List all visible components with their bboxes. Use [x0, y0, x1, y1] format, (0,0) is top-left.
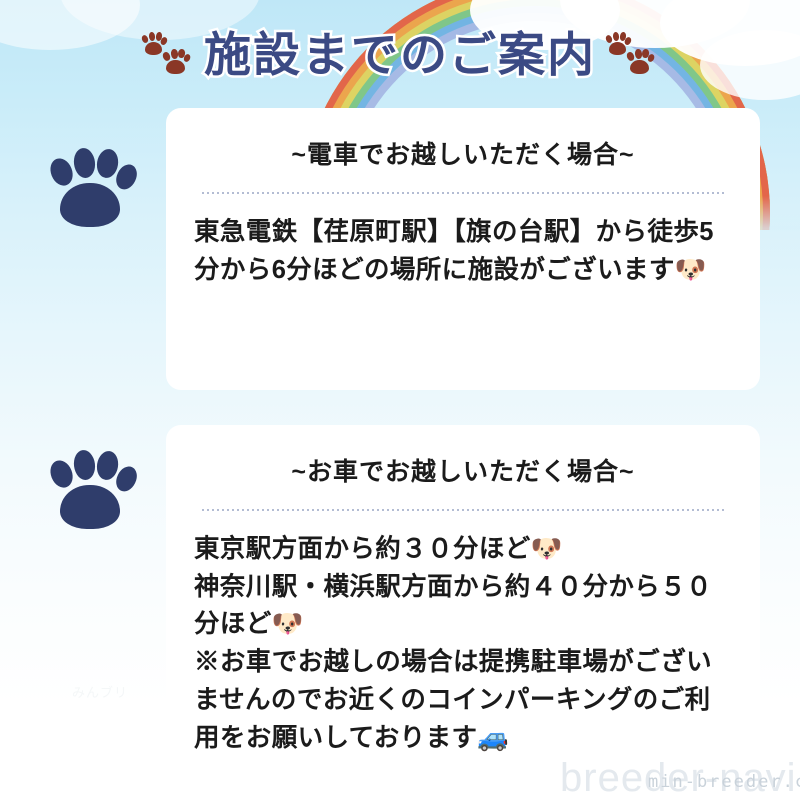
watermark-secondary: min-breeder.com: [648, 772, 800, 792]
card-heading-car: ~お車でお越しいただく場合~: [194, 457, 732, 487]
card-body-car: 東京駅方面から約３０分ほど🐶 神奈川駅・横浜駅方面から約４０分から５０分ほど🐶 …: [194, 531, 732, 757]
card-heading-train: ~電車でお越しいただく場合~: [194, 140, 732, 170]
card-body-train: 東急電鉄【荏原町駅】【旗の台駅】から徒歩5分から6分ほどの場所に施設がございます…: [194, 214, 732, 289]
title-paw-right-icon: [604, 31, 660, 77]
info-card-train: ~電車でお越しいただく場合~ 東急電鉄【荏原町駅】【旗の台駅】から徒歩5分から6…: [166, 108, 760, 390]
card-divider: [202, 509, 724, 511]
watermark-faint: みんブリ: [72, 682, 128, 701]
guide-poster: 施設までのご案内 ~電車でお越しいただく場合~ 東急電鉄【荏原町駅】【旗の台駅】…: [0, 0, 800, 800]
page-title: 施設までのご案内: [204, 31, 596, 78]
info-card-car: ~お車でお越しいただく場合~ 東京駅方面から約３０分ほど🐶 神奈川駅・横浜駅方面…: [166, 425, 760, 800]
page-title-row: 施設までのご案内: [0, 18, 800, 90]
side-paw-icon-train: [44, 146, 136, 230]
title-paw-left-icon: [140, 31, 196, 77]
side-paw-icon-car: [44, 448, 136, 532]
card-divider: [202, 192, 724, 194]
